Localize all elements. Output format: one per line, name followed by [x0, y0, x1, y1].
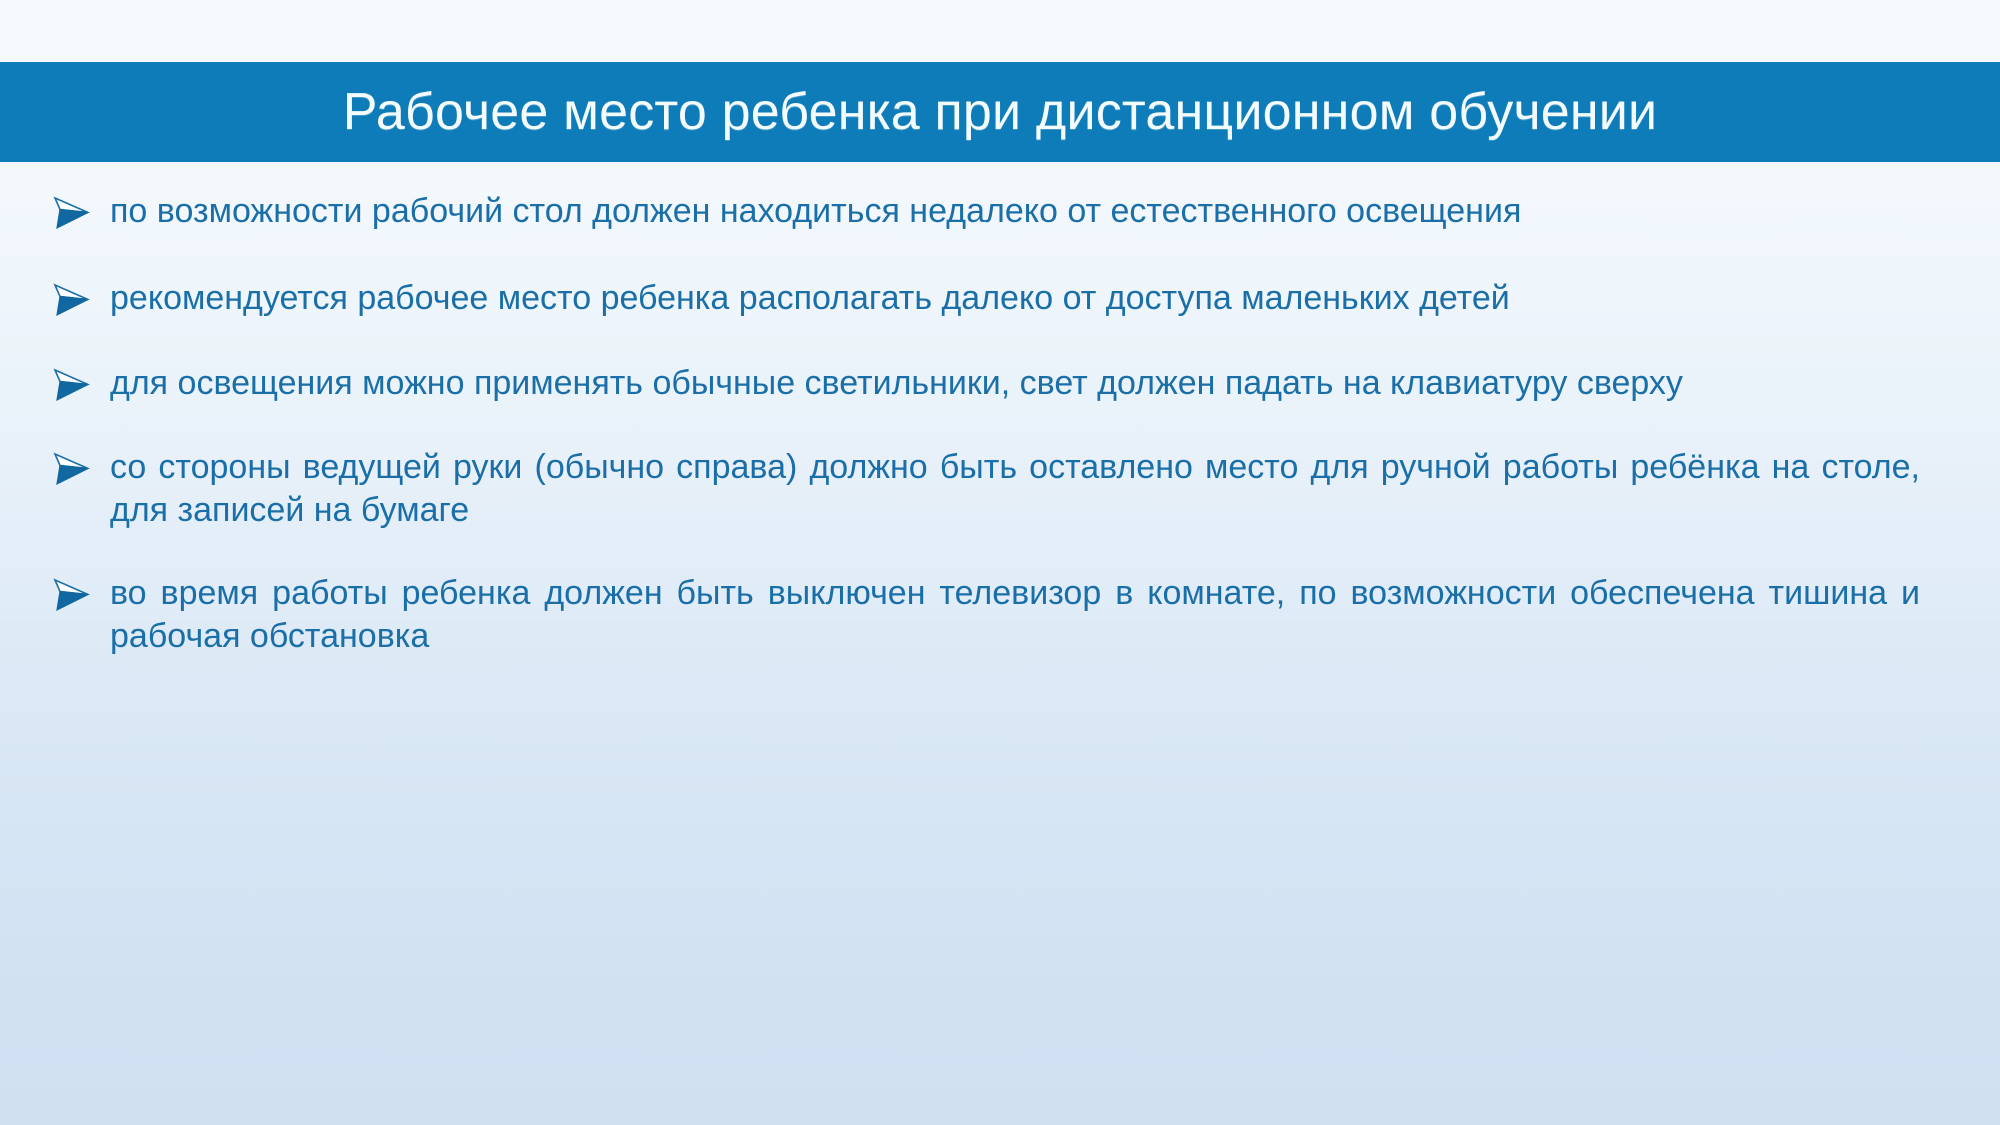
page-title: Рабочее место ребенка при дистанционном …: [343, 86, 1658, 138]
list-item: рекомендуется рабочее место ребенка расп…: [0, 277, 2000, 320]
arrowhead-bullet-icon: [52, 572, 110, 612]
list-item-text: по возможности рабочий стол должен наход…: [110, 190, 1920, 233]
list-item: со стороны ведущей руки (обычно справа) …: [0, 446, 2000, 532]
list-item: для освещения можно применять обычные св…: [0, 362, 2000, 405]
list-item-text: для освещения можно применять обычные св…: [110, 362, 1920, 405]
list-item-text: рекомендуется рабочее место ребенка расп…: [110, 277, 1920, 320]
arrowhead-bullet-icon: [52, 277, 110, 317]
arrowhead-bullet-icon: [52, 446, 110, 486]
slide: Рабочее место ребенка при дистанционном …: [0, 0, 2000, 1125]
list-item: во время работы ребенка должен быть выкл…: [0, 572, 2000, 658]
arrowhead-bullet-icon: [52, 190, 110, 230]
arrowhead-bullet-icon: [52, 362, 110, 402]
list-item-text: во время работы ребенка должен быть выкл…: [110, 572, 1920, 658]
slide-title-bar: Рабочее место ребенка при дистанционном …: [0, 62, 2000, 162]
list-item-text: со стороны ведущей руки (обычно справа) …: [110, 446, 1920, 532]
list-item: по возможности рабочий стол должен наход…: [0, 190, 2000, 233]
bullet-list: по возможности рабочий стол должен наход…: [0, 190, 2000, 658]
